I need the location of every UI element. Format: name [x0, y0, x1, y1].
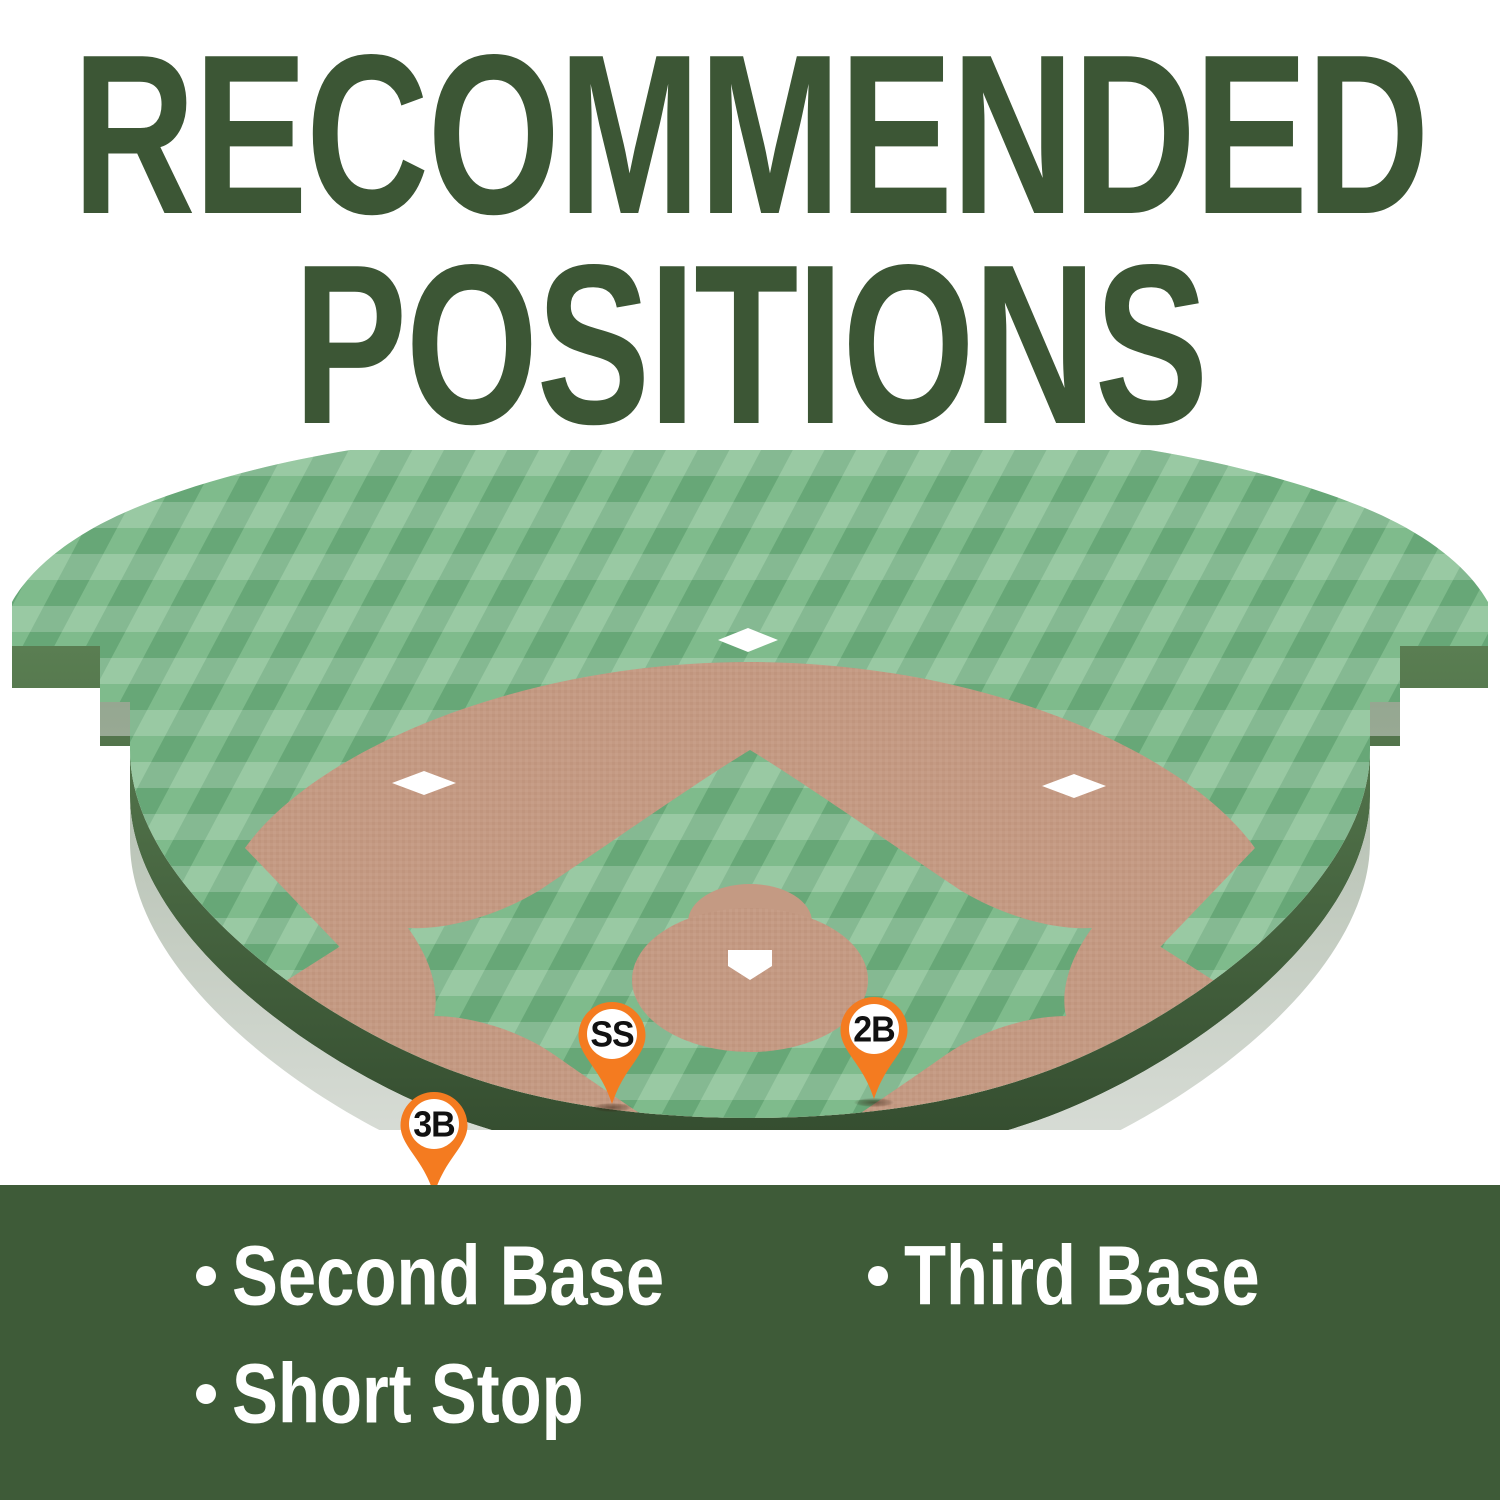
title-line-2: POSITIONS [30, 240, 1470, 450]
map-pin-ss[interactable]: SS [576, 1001, 648, 1105]
map-pin-2b[interactable]: 2B [838, 996, 910, 1100]
bullet-icon [196, 1384, 216, 1404]
map-pin-shadow [854, 1098, 894, 1107]
bullet-icon [196, 1266, 216, 1286]
page-title: RECOMMENDED POSITIONS [0, 30, 1500, 404]
poster-root: RECOMMENDED POSITIONS [0, 0, 1500, 1500]
map-pin-icon [576, 1001, 648, 1105]
legend-label-short-stop: Short Stop [232, 1352, 584, 1436]
legend-label-third-base: Third Base [904, 1234, 1260, 1318]
legend-item-short-stop: Short Stop [196, 1357, 610, 1431]
first-base-marker [1042, 774, 1106, 798]
map-pin-icon [838, 996, 910, 1100]
map-pin-icon [398, 1091, 470, 1195]
title-line-1: RECOMMENDED [30, 30, 1470, 240]
legend-item-third-base: Third Base [868, 1239, 1286, 1313]
bullet-icon [868, 1266, 888, 1286]
recommended-positions-panel: Second Base Short Stop Third Base [0, 1185, 1500, 1500]
second-base-marker [718, 628, 778, 652]
field-bases-layer [0, 450, 1500, 1130]
legend-label-second-base: Second Base [232, 1234, 664, 1318]
third-base-marker [392, 771, 456, 795]
map-pin-3b[interactable]: 3B [398, 1091, 470, 1195]
legend-item-second-base: Second Base [196, 1239, 697, 1313]
map-pin-shadow [592, 1103, 632, 1112]
baseball-field-diagram: SS2B3B [0, 450, 1500, 1130]
